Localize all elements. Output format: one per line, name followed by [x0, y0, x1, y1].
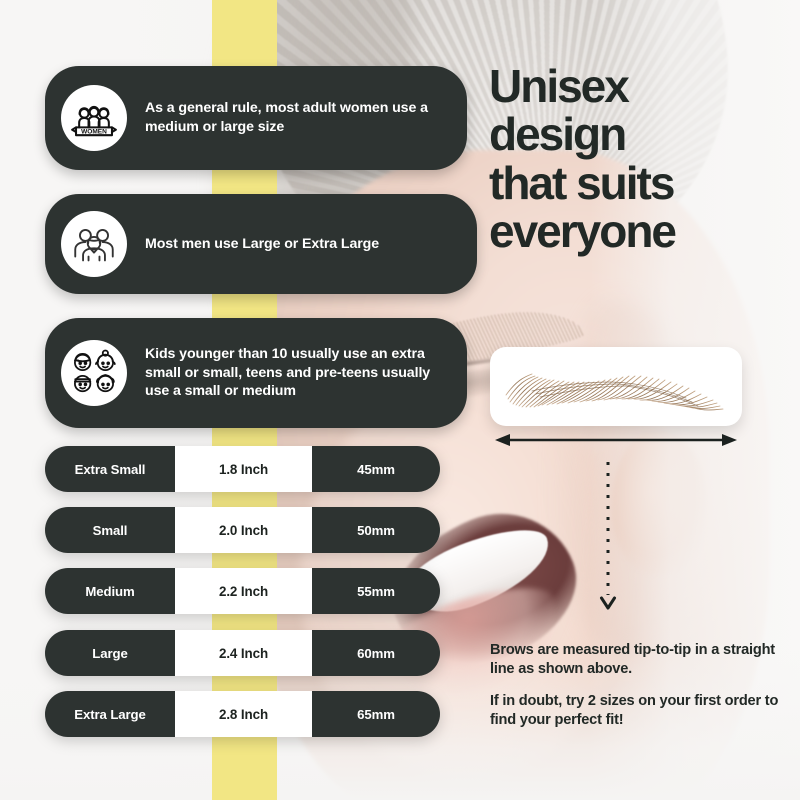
double-headed-measure-arrow — [495, 432, 737, 448]
size-row-label: Large — [45, 630, 175, 676]
size-inch: 2.8 Inch — [219, 707, 268, 722]
svg-text:WOMEN: WOMEN — [81, 129, 107, 136]
size-mm: 45mm — [357, 462, 395, 477]
size-inch: 1.8 Inch — [219, 462, 268, 477]
size-row-mm: 65mm — [312, 691, 440, 737]
headline-line-1: Unisex — [489, 62, 789, 110]
eyebrow-product-card — [490, 347, 742, 426]
size-row-label: Medium — [45, 568, 175, 614]
info-card-women-text: As a general rule, most adult women use … — [145, 99, 453, 136]
size-mm: 60mm — [357, 646, 395, 661]
size-label: Medium — [85, 584, 134, 599]
info-card-kids: Kids younger than 10 usually use an extr… — [45, 318, 467, 428]
size-row-inches: 2.8 Inch — [175, 691, 312, 737]
right-column: Unisex design that suits everyone — [480, 0, 800, 800]
info-card-men-text: Most men use Large or Extra Large — [145, 235, 379, 254]
size-row-large: Large 2.4 Inch 60mm — [45, 630, 440, 676]
size-row-inches: 1.8 Inch — [175, 446, 312, 492]
measurement-note: Brows are measured tip-to-tip in a strai… — [490, 641, 780, 679]
sizing-advice-note: If in doubt, try 2 sizes on your first o… — [490, 692, 780, 730]
size-row-extra-small: Extra Small 1.8 Inch 45mm — [45, 446, 440, 492]
size-row-label: Extra Large — [45, 691, 175, 737]
size-mm: 50mm — [357, 523, 395, 538]
size-label: Small — [93, 523, 128, 538]
size-row-mm: 60mm — [312, 630, 440, 676]
info-card-kids-text: Kids younger than 10 usually use an extr… — [145, 345, 453, 401]
page-title: Unisex design that suits everyone — [489, 62, 789, 255]
left-column: WOMEN As a general rule, most adult wome… — [0, 0, 480, 800]
size-row-mm: 50mm — [312, 507, 440, 553]
men-group-icon — [61, 211, 127, 277]
size-row-medium: Medium 2.2 Inch 55mm — [45, 568, 440, 614]
headline-line-3: that suits — [489, 159, 789, 207]
headline-line-2: design — [489, 110, 789, 158]
size-mm: 55mm — [357, 584, 395, 599]
kids-group-icon — [61, 340, 127, 406]
info-card-men: Most men use Large or Extra Large — [45, 194, 477, 294]
size-row-inches: 2.0 Inch — [175, 507, 312, 553]
dashed-down-arrow — [598, 462, 618, 612]
size-row-small: Small 2.0 Inch 50mm — [45, 507, 440, 553]
size-row-mm: 55mm — [312, 568, 440, 614]
size-label: Extra Large — [74, 707, 145, 722]
size-mm: 65mm — [357, 707, 395, 722]
size-row-label: Extra Small — [45, 446, 175, 492]
eyebrow-product-image — [502, 355, 730, 417]
size-row-inches: 2.4 Inch — [175, 630, 312, 676]
info-card-women: WOMEN As a general rule, most adult wome… — [45, 66, 467, 170]
women-group-icon: WOMEN — [61, 85, 127, 151]
size-inch: 2.2 Inch — [219, 584, 268, 599]
size-inch: 2.4 Inch — [219, 646, 268, 661]
size-inch: 2.0 Inch — [219, 523, 268, 538]
size-row-label: Small — [45, 507, 175, 553]
size-label: Extra Small — [75, 462, 146, 477]
size-row-extra-large: Extra Large 2.8 Inch 65mm — [45, 691, 440, 737]
size-row-mm: 45mm — [312, 446, 440, 492]
headline-line-4: everyone — [489, 207, 789, 255]
size-row-inches: 2.2 Inch — [175, 568, 312, 614]
size-label: Large — [92, 646, 127, 661]
